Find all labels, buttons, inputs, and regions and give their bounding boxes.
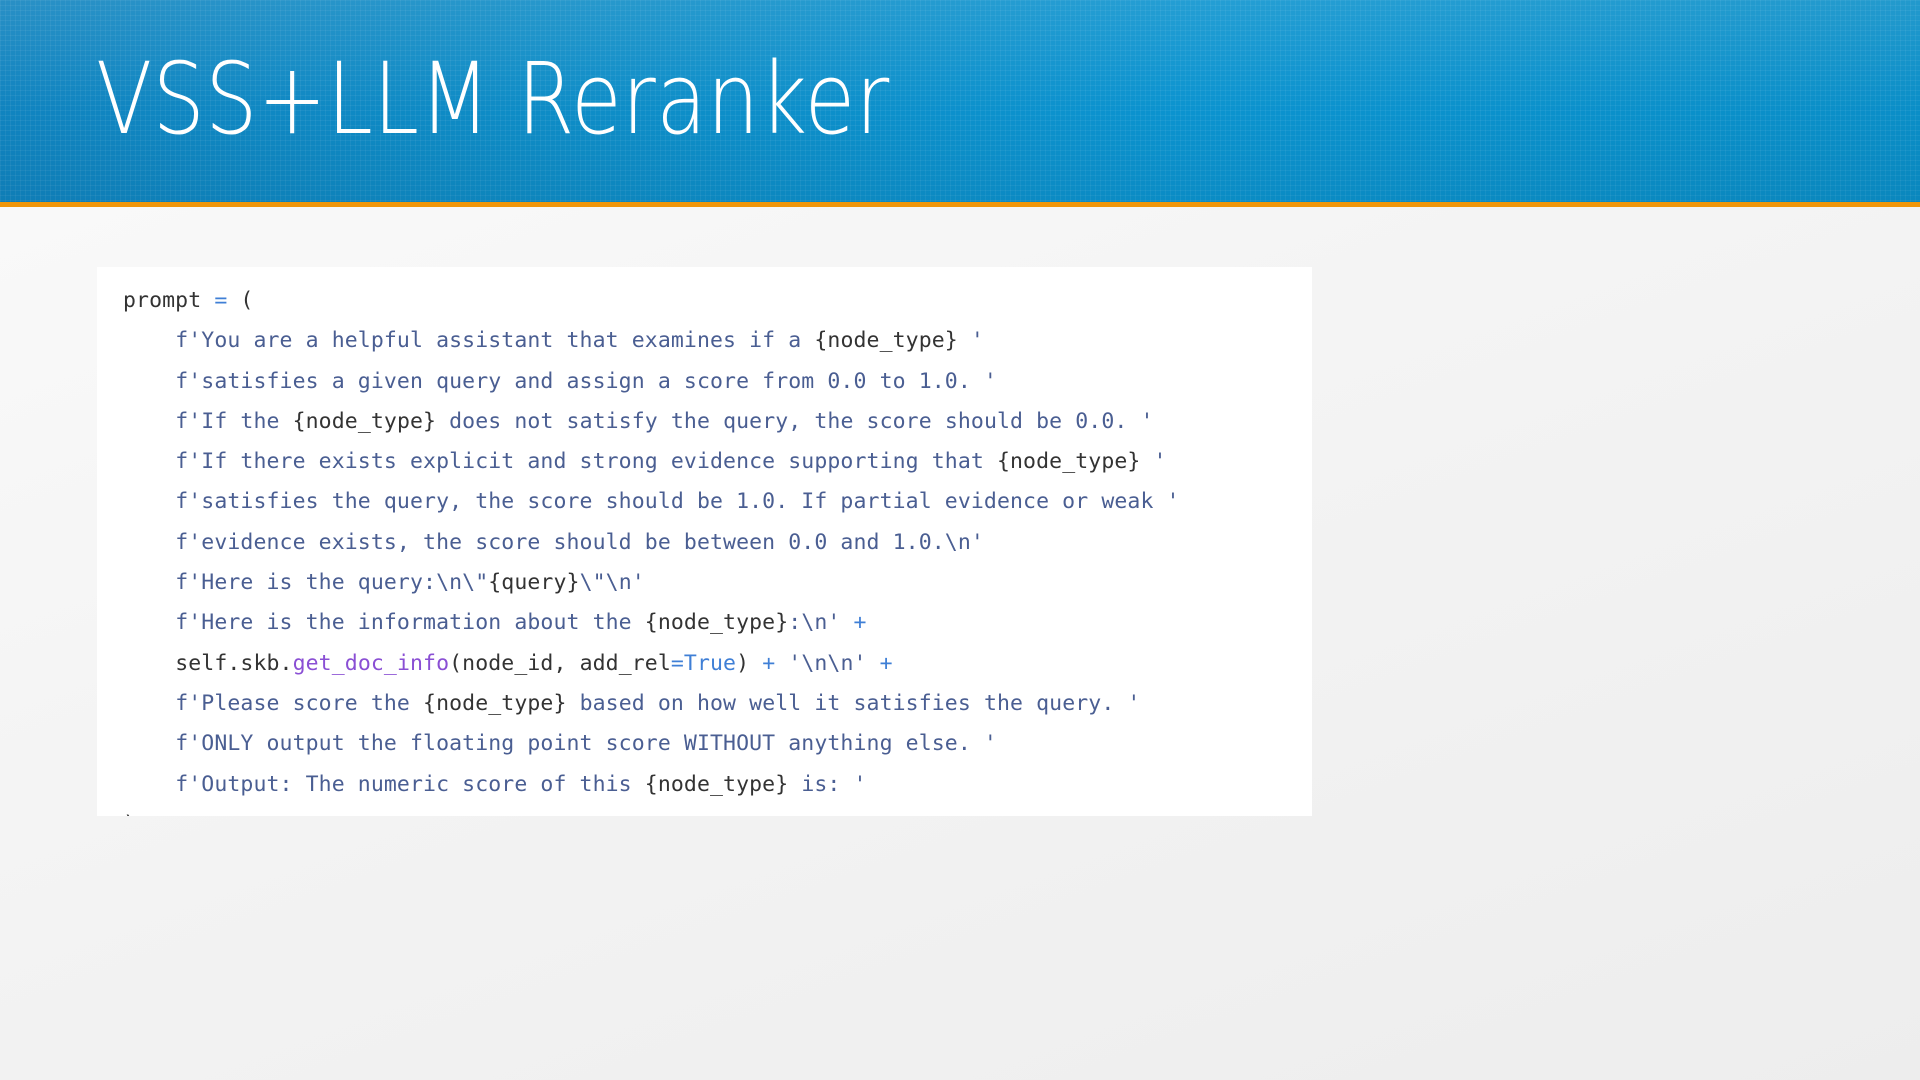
code-line: f'If there exists explicit and strong ev… (123, 442, 1180, 482)
code-token-plain (749, 651, 762, 676)
code-token-name: {node_type} (814, 328, 958, 353)
code-line: f'satisfies the query, the score should … (123, 482, 1180, 522)
code-token-str: f'Here is the query:\n\" (175, 570, 488, 595)
code-token-op: = (214, 288, 227, 313)
code-token-name: ( (227, 288, 253, 313)
code-token-str: f'satisfies the query, the score should … (175, 489, 1179, 514)
code-token-str: f'evidence exists, the score should be b… (175, 530, 984, 555)
code-token-str: f'If the (175, 409, 292, 434)
code-token-str: f'Output: The numeric score of this (175, 772, 645, 797)
code-indent (123, 409, 175, 434)
code-token-plain (867, 651, 880, 676)
code-indent (123, 369, 175, 394)
code-token-kw: True (684, 651, 736, 676)
code-indent (123, 651, 175, 676)
code-token-str: f'You are a helpful assistant that exami… (175, 328, 814, 353)
code-token-str: ' (958, 328, 984, 353)
code-token-str: '\n\n' (788, 651, 866, 676)
code-line: f'You are a helpful assistant that exami… (123, 321, 1180, 361)
code-token-str: f'Please score the (175, 691, 423, 716)
code-token-name: self.skb. (175, 651, 292, 676)
code-token-name: {node_type} (997, 449, 1141, 474)
code-token-str: based on how well it satisfies the query… (567, 691, 1141, 716)
code-line: self.skb.get_doc_info(node_id, add_rel=T… (123, 644, 1180, 684)
code-indent (123, 570, 175, 595)
code-token-op: + (880, 651, 893, 676)
code-token-fn: get_doc_info (293, 651, 450, 676)
code-token-name: {node_type} (293, 409, 437, 434)
code-indent (123, 449, 175, 474)
code-line: prompt = ( (123, 281, 1180, 321)
code-line: f'Output: The numeric score of this {nod… (123, 765, 1180, 805)
code-line: f'Here is the information about the {nod… (123, 603, 1180, 643)
code-token-str: f'ONLY output the floating point score W… (175, 731, 997, 756)
code-token-str: ' (1140, 449, 1166, 474)
code-token-name: {query} (488, 570, 579, 595)
code-line: f'Here is the query:\n\"{query}\"\n' (123, 563, 1180, 603)
code-block: prompt = ( f'You are a helpful assistant… (97, 267, 1312, 816)
code-indent (123, 530, 175, 555)
code-line: f'ONLY output the floating point score W… (123, 724, 1180, 764)
code-token-op: + (762, 651, 775, 676)
code-listing: prompt = ( f'You are a helpful assistant… (123, 281, 1180, 816)
code-line: ) (123, 805, 1180, 816)
code-indent (123, 489, 175, 514)
code-token-str: f'Here is the information about the (175, 610, 645, 635)
code-line: f'evidence exists, the score should be b… (123, 523, 1180, 563)
code-token-str: f'If there exists explicit and strong ev… (175, 449, 997, 474)
code-token-name: ) (123, 812, 136, 816)
code-indent (123, 772, 175, 797)
slide-header-banner: VSS+LLM Reranker (0, 0, 1920, 202)
code-indent (123, 328, 175, 353)
code-indent (123, 731, 175, 756)
page-title: VSS+LLM Reranker (96, 47, 890, 154)
code-line: f'satisfies a given query and assign a s… (123, 362, 1180, 402)
code-indent (123, 610, 175, 635)
slide: VSS+LLM Reranker prompt = ( f'You are a … (0, 0, 1920, 1080)
code-token-name: ) (736, 651, 749, 676)
code-token-str: \"\n' (580, 570, 645, 595)
code-token-name: {node_type} (423, 691, 567, 716)
code-token-name: (node_id, add_rel (449, 651, 671, 676)
code-token-op: + (854, 610, 867, 635)
header-accent-rule (0, 202, 1920, 207)
code-token-plain (775, 651, 788, 676)
code-line: f'Please score the {node_type} based on … (123, 684, 1180, 724)
code-token-str: f'satisfies a given query and assign a s… (175, 369, 997, 394)
code-token-name: {node_type} (645, 610, 789, 635)
code-token-str: does not satisfy the query, the score sh… (436, 409, 1153, 434)
code-token-str: :\n' (788, 610, 840, 635)
code-token-str: is: ' (788, 772, 866, 797)
code-token-op: = (671, 651, 684, 676)
code-token-plain (840, 610, 853, 635)
code-token-name: prompt (123, 288, 214, 313)
code-indent (123, 691, 175, 716)
code-token-name: {node_type} (645, 772, 789, 797)
code-line: f'If the {node_type} does not satisfy th… (123, 402, 1180, 442)
